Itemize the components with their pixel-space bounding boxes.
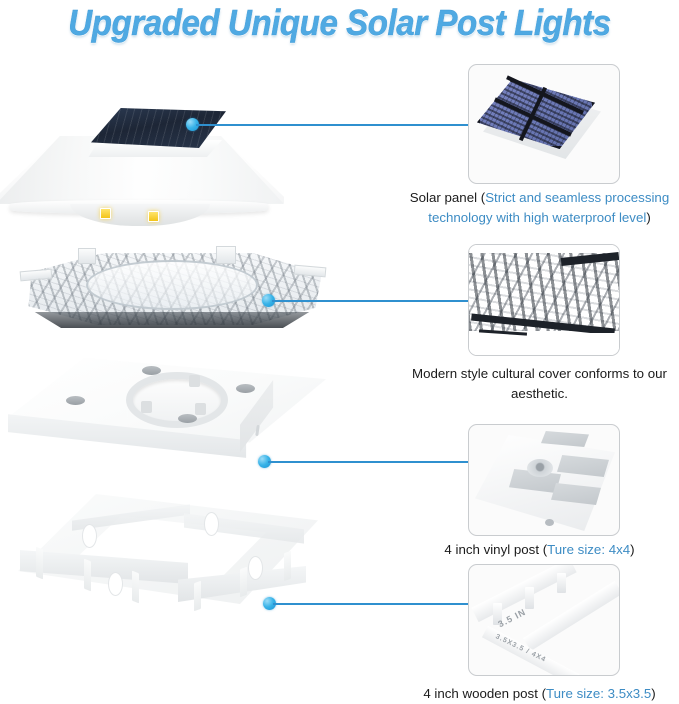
adapter-rib-5	[240, 567, 247, 598]
screw-hole-right	[236, 384, 255, 393]
caption-solar-panel-prefix: Solar panel (	[410, 190, 485, 205]
caption-solar-panel-suffix: )	[646, 210, 650, 225]
mount-ring-nub-right	[195, 403, 206, 415]
caption-vinyl-post-prefix: 4 inch vinyl post (	[444, 542, 547, 557]
adapter-cutout-left	[82, 524, 97, 548]
callout-art-solar-panel	[469, 65, 619, 183]
adapter-cutout-right	[248, 556, 263, 580]
screw-hole-left	[66, 396, 85, 405]
adapter-rib-4	[194, 581, 201, 612]
mount-ring-nub-left	[141, 401, 152, 413]
adapter-rib-1	[36, 547, 43, 580]
infographic-canvas: Upgraded Unique Solar Post Lights	[0, 0, 679, 704]
adapter-rib-2	[84, 559, 91, 592]
product-part-vinyl-base	[0, 352, 340, 492]
connector-line-adapter	[273, 603, 468, 605]
glass-texture-top-strip	[469, 245, 619, 253]
glass-tab-back-left	[78, 248, 96, 264]
caption-glass-cover: Modern style cultural cover conforms to …	[400, 364, 679, 404]
led-chip-left	[100, 208, 111, 219]
callout-art-wooden-post: 3.5 IN 3.5X3.5 / 4X4	[469, 565, 619, 675]
caption-vinyl-post-suffix: )	[630, 542, 634, 557]
glass-tab-back-right	[216, 246, 236, 264]
callout-art-vinyl-post	[469, 425, 619, 535]
vinyl-underside-screw-hole	[545, 519, 554, 526]
callout-box-solar-panel	[468, 64, 620, 184]
adapter-rib-3	[132, 571, 139, 604]
glass-texture-bottom-strip	[469, 333, 619, 355]
adapter-cutout-back	[204, 512, 219, 536]
callout-box-vinyl-post	[468, 424, 620, 536]
vinyl-underside-center-boss	[527, 459, 553, 477]
adapter-cutout-front	[108, 572, 123, 596]
mount-ring-nub-top	[189, 375, 200, 387]
glass-cover-inner-ring	[86, 260, 258, 310]
adapter-fin-2	[525, 587, 534, 609]
product-part-glass-cover	[8, 236, 338, 344]
caption-wooden-post: 4 inch wooden post (Ture size: 3.5x3.5)	[400, 684, 679, 704]
connector-line-lid	[196, 124, 468, 126]
callout-art-glass-texture	[469, 245, 619, 355]
caption-wooden-post-suffix: )	[651, 686, 655, 701]
adapter-rib-6	[284, 551, 291, 582]
product-part-lid	[0, 108, 296, 233]
caption-wooden-post-prefix: 4 inch wooden post (	[423, 686, 546, 701]
adapter-fin-3	[557, 573, 566, 593]
screw-hole-bottom	[178, 414, 197, 423]
caption-vinyl-post-highlight: Ture size: 4x4	[547, 542, 630, 557]
caption-solar-panel: Solar panel (Strict and seamless process…	[400, 188, 679, 228]
lid-under-ring	[70, 204, 210, 226]
caption-vinyl-post: 4 inch vinyl post (Ture size: 4x4)	[400, 540, 679, 560]
screw-hole-top	[142, 366, 161, 375]
connector-line-glass	[272, 300, 468, 302]
caption-wooden-post-highlight: Ture size: 3.5x3.5	[546, 686, 651, 701]
callout-box-wooden-post: 3.5 IN 3.5X3.5 / 4X4	[468, 564, 620, 676]
vinyl-base-mount-ring	[126, 372, 228, 428]
callout-box-glass-texture	[468, 244, 620, 356]
product-part-wood-adapter	[8, 490, 338, 650]
page-title: Upgraded Unique Solar Post Lights	[27, 2, 652, 50]
connector-line-base	[268, 461, 468, 463]
caption-glass-cover-prefix: Modern style cultural cover conforms to …	[412, 366, 667, 401]
led-chip-right	[148, 211, 159, 222]
glass-cover-bottom-edge	[26, 312, 318, 328]
